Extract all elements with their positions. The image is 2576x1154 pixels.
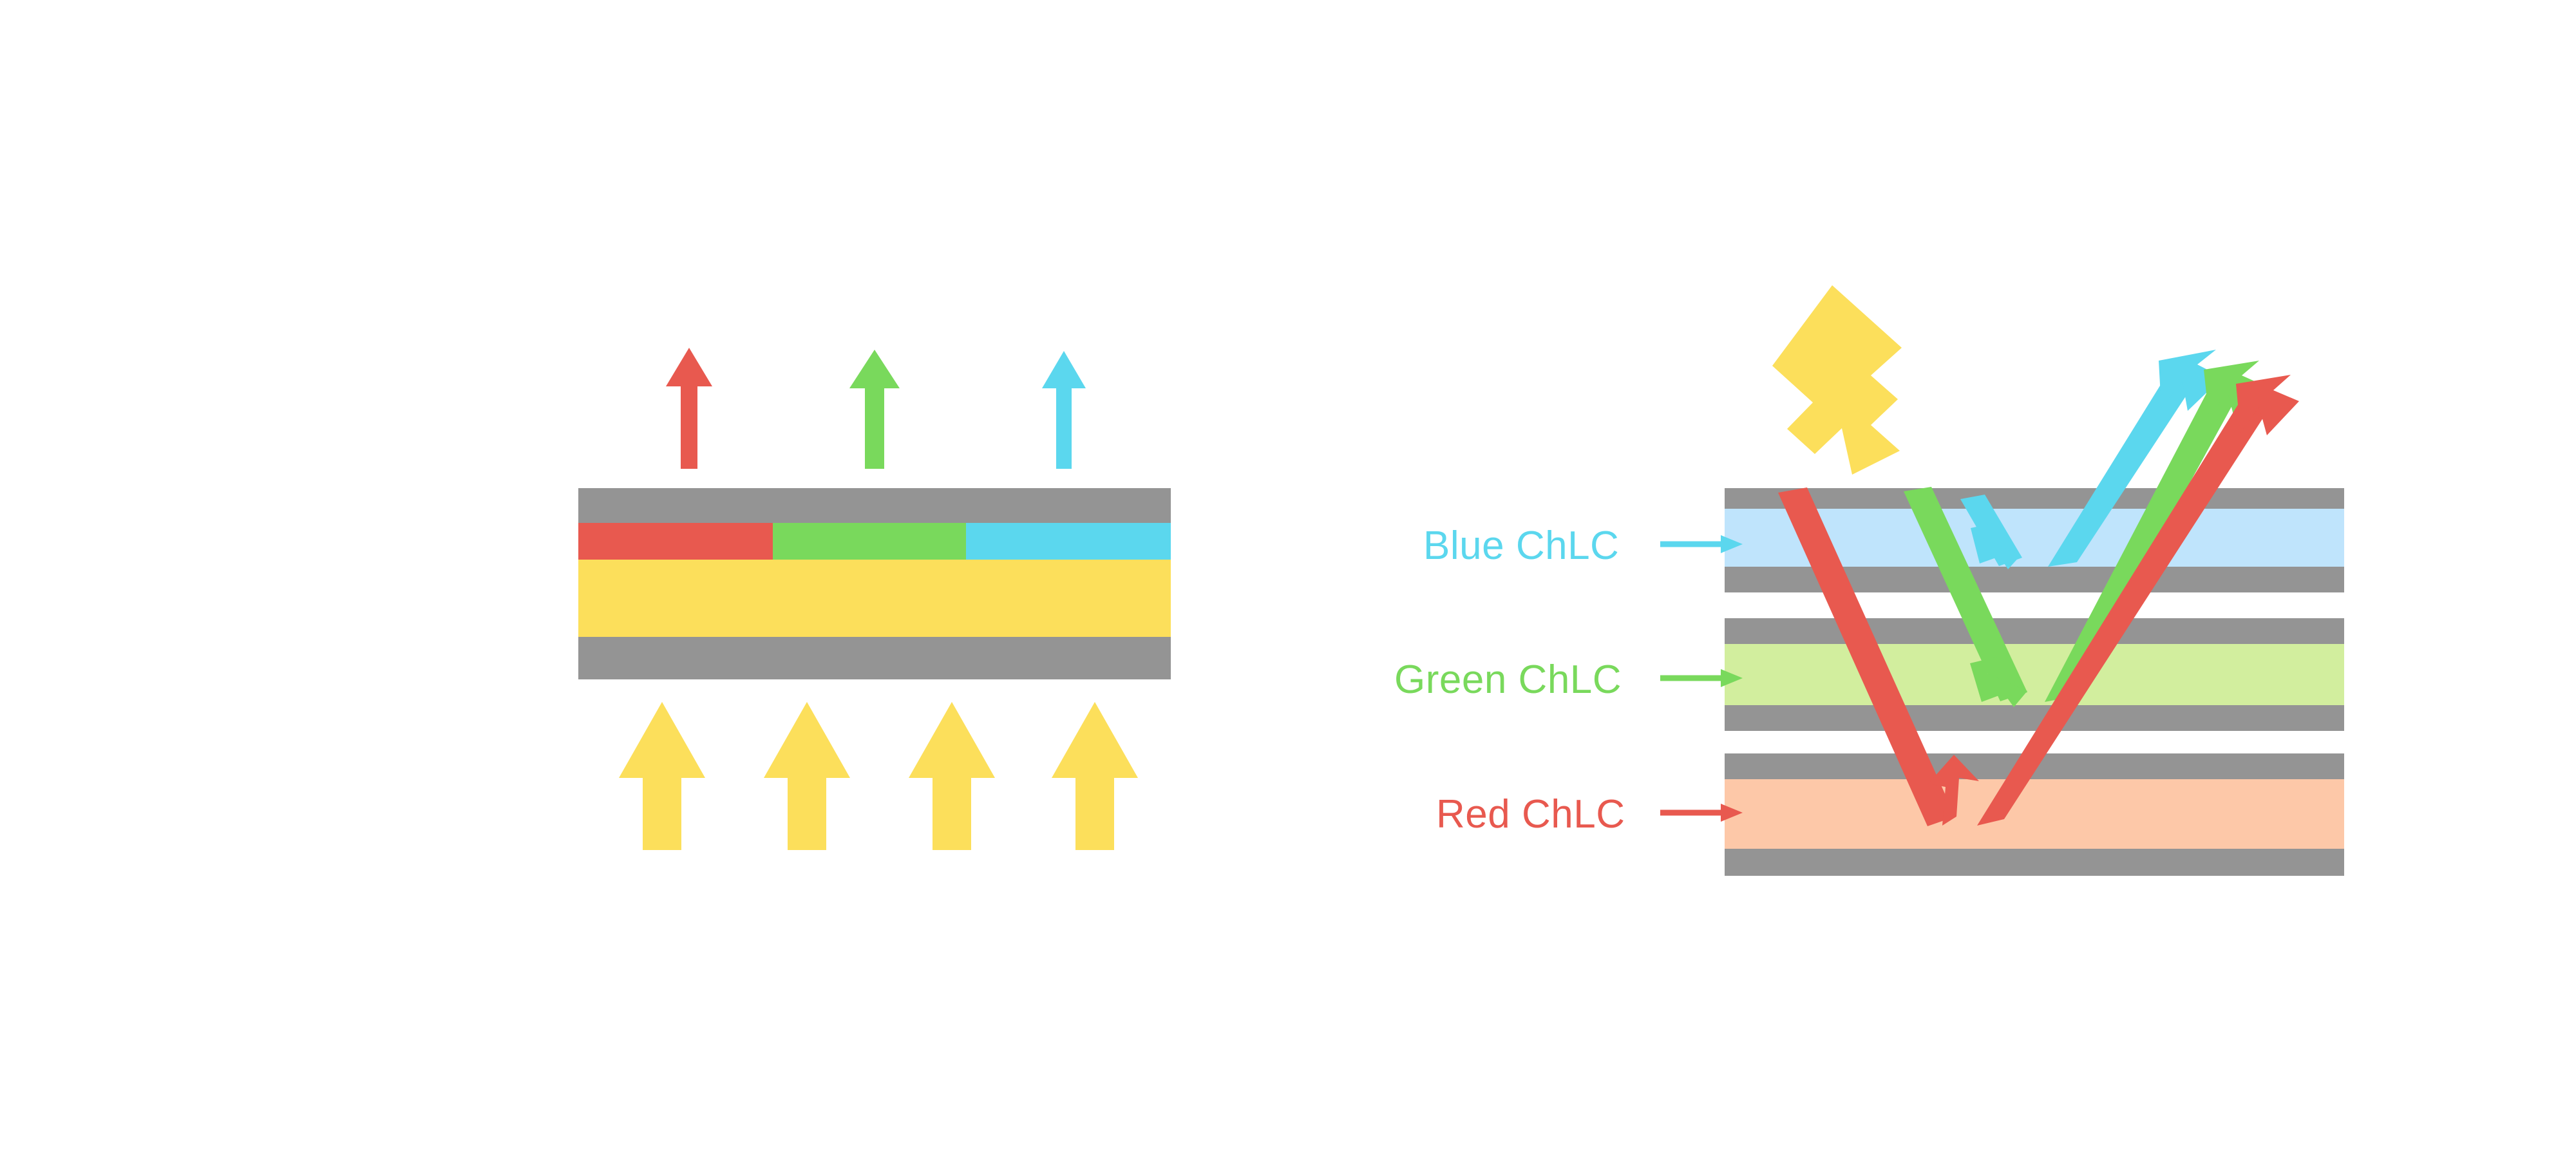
backlight-guide-layer	[578, 560, 1171, 637]
blue-chlc-label: Blue ChLC	[1423, 524, 1619, 568]
left-top-substrate	[578, 488, 1171, 523]
red-cell-bottom-electrode	[1725, 849, 2344, 876]
left-display-stack	[578, 488, 1171, 679]
diagram-canvas: Blue ChLC Green ChLC Red ChLC	[0, 0, 2576, 1154]
left-bottom-substrate	[578, 637, 1171, 679]
red-color-filter	[578, 523, 773, 560]
green-color-filter	[773, 523, 966, 560]
figure-root: Blue ChLC Green ChLC Red ChLC	[0, 0, 2576, 1154]
green-cell-bottom-electrode	[1725, 705, 2344, 731]
red-chlc-layer	[1725, 779, 2344, 849]
green-chlc-label: Green ChLC	[1394, 657, 1622, 702]
blue-color-filter	[966, 523, 1171, 560]
green-cell-top-electrode	[1725, 618, 2344, 644]
green-chlc-layer	[1725, 644, 2344, 705]
blue-cell-top-electrode	[1725, 488, 2344, 509]
red-chlc-label: Red ChLC	[1436, 792, 1625, 837]
